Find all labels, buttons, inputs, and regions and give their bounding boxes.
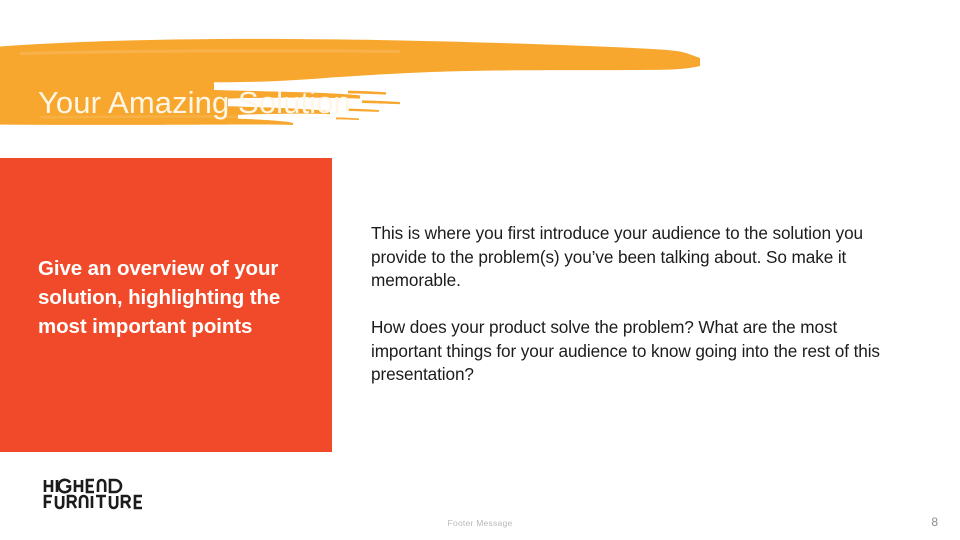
brand-logo-mark bbox=[43, 478, 193, 512]
page-number: 8 bbox=[931, 515, 938, 529]
brush-streak-3 bbox=[348, 109, 379, 112]
body-paragraph-2: How does your product solve the problem?… bbox=[371, 316, 897, 387]
page-title: Your Amazing Solution bbox=[38, 83, 351, 123]
body-paragraph-1: This is where you first introduce your a… bbox=[371, 222, 897, 293]
callout-heading: Give an overview of your solution, highl… bbox=[38, 254, 310, 341]
body-content: This is where you first introduce your a… bbox=[371, 222, 897, 387]
brush-streak-2 bbox=[362, 100, 400, 104]
brush-streak-1 bbox=[348, 91, 386, 95]
callout-panel: Give an overview of your solution, highl… bbox=[0, 158, 332, 452]
footer-message: Footer Message bbox=[0, 518, 960, 528]
presentation-slide: Your Amazing Solution Give an overview o… bbox=[0, 0, 960, 540]
brand-logo bbox=[43, 478, 193, 512]
